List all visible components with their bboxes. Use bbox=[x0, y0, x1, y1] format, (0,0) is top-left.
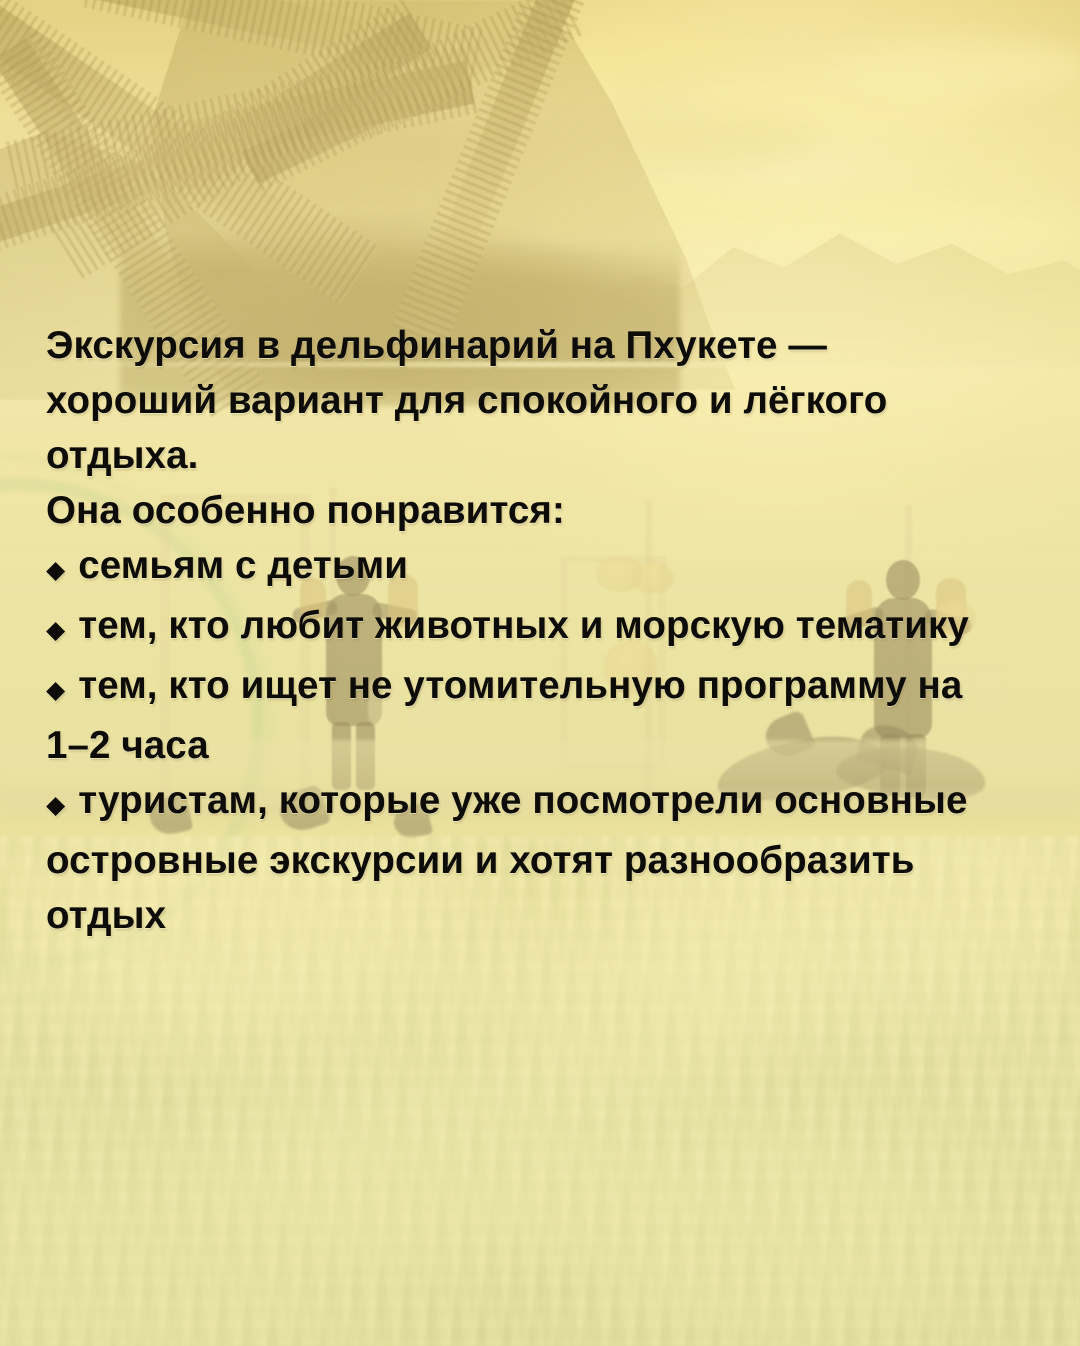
list-item-text: семьям с детьми bbox=[78, 538, 408, 593]
bullet-diamond-icon: ◆ bbox=[46, 603, 65, 658]
lead-in-line: Она особенно понравится: bbox=[46, 483, 1036, 538]
list-item: ◆ тем, кто ищет не утомительную программ… bbox=[46, 658, 1036, 718]
promo-slide: Экскурсия в дельфинарий на Пхукете — хор… bbox=[0, 0, 1080, 1346]
list-item: ◆ семьям с детьми bbox=[46, 538, 1036, 598]
bullet-diamond-icon: ◆ bbox=[46, 543, 65, 598]
list-item-text: туристам, которые уже посмотрели основны… bbox=[78, 773, 967, 828]
list-item: ◆ туристам, которые уже посмотрели основ… bbox=[46, 773, 1036, 833]
text-block: Экскурсия в дельфинарий на Пхукете — хор… bbox=[46, 318, 1036, 943]
bullet-diamond-icon: ◆ bbox=[46, 663, 65, 718]
intro-line-3: отдыха. bbox=[46, 428, 1036, 483]
list-item-text-cont: 1–2 часа bbox=[46, 718, 1036, 773]
intro-line-2: хороший вариант для спокойного и лёгкого bbox=[46, 373, 1036, 428]
bullet-diamond-icon: ◆ bbox=[46, 778, 65, 833]
list-item: ◆ тем, кто любит животных и морскую тема… bbox=[46, 598, 1036, 658]
list-item-text-cont: отдых bbox=[46, 888, 1036, 943]
list-item-text: тем, кто любит животных и морскую темати… bbox=[78, 598, 969, 653]
intro-line-1: Экскурсия в дельфинарий на Пхукете — bbox=[46, 318, 1036, 373]
list-item-text-cont: островные экскурсии и хотят разнообразит… bbox=[46, 833, 1036, 888]
list-item-text: тем, кто ищет не утомительную программу … bbox=[78, 658, 962, 713]
